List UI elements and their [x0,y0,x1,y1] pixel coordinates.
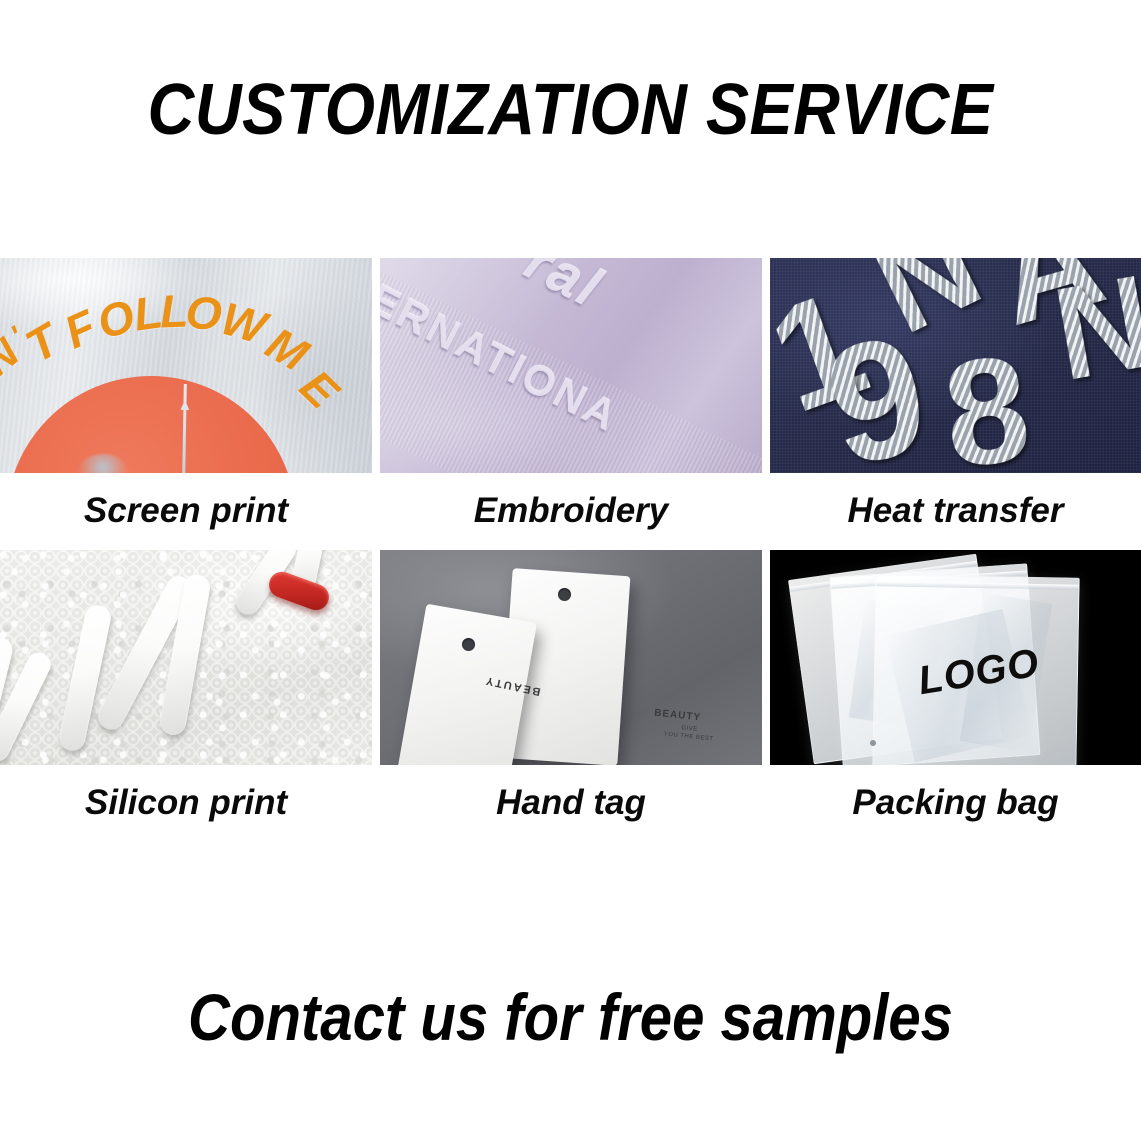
grid-item-heat-transfer[interactable]: 1 9 8 N A N Heat transfer [762,258,1141,550]
bag-vent-hole [870,740,876,746]
service-grid: N ' T F O L L O W M E Screen print [0,258,1141,842]
screen-print-artwork: N ' T F O L L O W M E [0,258,372,473]
call-to-action-text: Contact us for free samples [68,984,1072,1050]
caption-silicon-print: Silicon print [0,765,372,842]
zip-seal [877,581,1079,590]
hang-tag-back-tagline: GIVEYOU THE BEST [663,723,714,743]
embroidery-image: ERNATIONA ral [380,258,762,473]
caption-screen-print: Screen print [0,473,372,550]
caption-embroidery: Embroidery [380,473,762,550]
customization-service-poster: CUSTOMIZATION SERVICE N ' T F O L L O [0,0,1141,1142]
screen-print-image: N ' T F O L L O W M E [0,258,372,473]
grid-item-hand-tag[interactable]: BEAUTY GIVEYOU THE BEST BEAUTY Hand tag [372,550,762,842]
caption-heat-transfer: Heat transfer [770,473,1141,550]
packing-bag-image: LOGO [770,550,1141,765]
heat-transfer-image: 1 9 8 N A N [770,258,1141,473]
caption-hand-tag: Hand tag [380,765,762,842]
hang-tag-front-hole [462,638,475,651]
silicon-print-image [0,550,372,765]
page-title: CUSTOMIZATION SERVICE [57,74,1084,146]
embroidery-artwork: ERNATIONA ral [380,258,762,473]
grid-item-silicon-print[interactable]: Silicon print [0,550,372,842]
packing-bag-artwork: LOGO [770,550,1141,765]
caption-packing-bag: Packing bag [770,765,1141,842]
hand-tag-artwork: BEAUTY GIVEYOU THE BEST BEAUTY [380,550,762,765]
hand-tag-image: BEAUTY GIVEYOU THE BEST BEAUTY [380,550,762,765]
grid-item-embroidery[interactable]: ERNATIONA ral Embroidery [372,258,762,550]
hang-tag-back-brand: BEAUTY [653,708,701,725]
grid-item-packing-bag[interactable]: LOGO Packing bag [762,550,1141,842]
silicon-print-artwork [0,550,372,765]
grid-item-screen-print[interactable]: N ' T F O L L O W M E Screen print [0,258,372,550]
hang-tag-back-hole [558,588,571,601]
heat-transfer-artwork: 1 9 8 N A N [770,258,1141,473]
